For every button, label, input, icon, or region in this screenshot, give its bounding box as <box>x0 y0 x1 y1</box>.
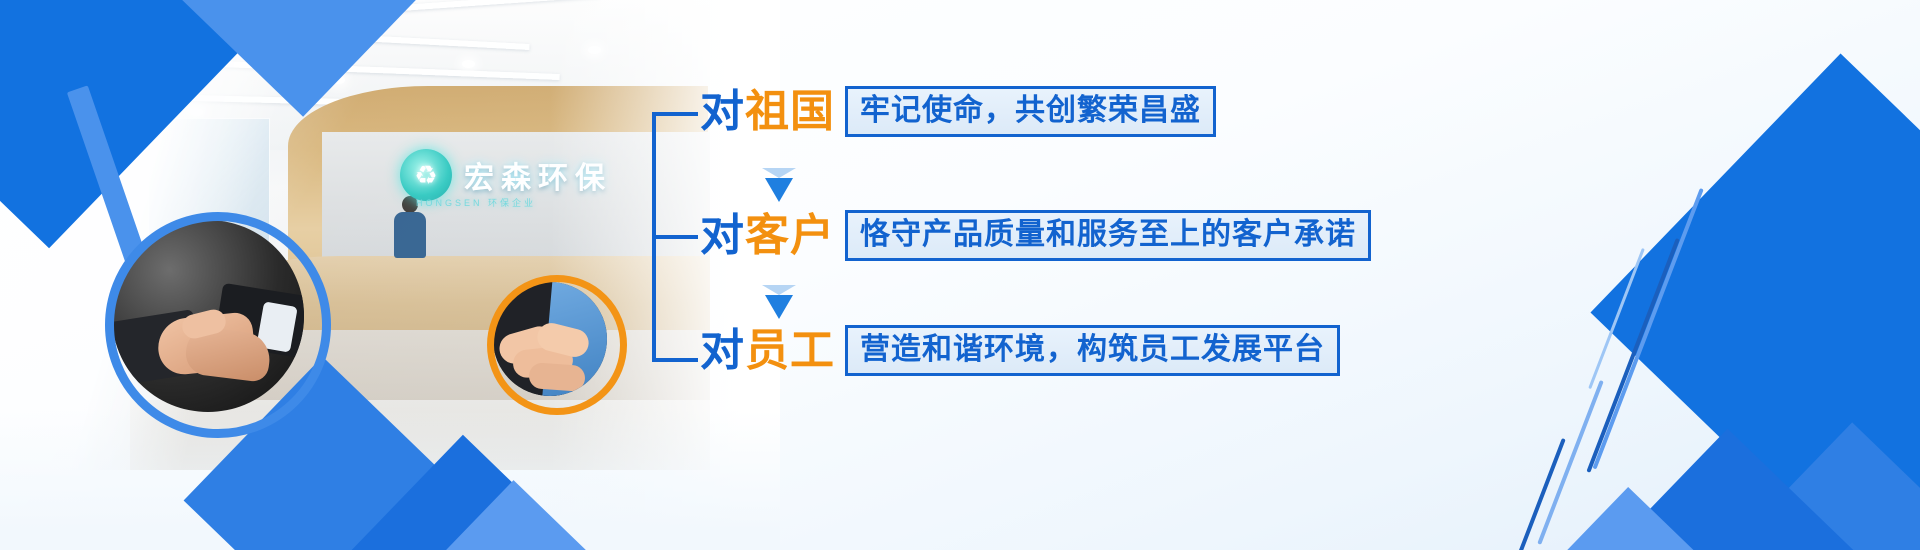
value-prefix: 对 <box>700 87 745 136</box>
applause-photo-ring <box>487 275 627 415</box>
values-list: 对祖国 牢记使命，共创繁荣昌盛 对客户 恪守产品质量和服务至上的客户承诺 对员工… <box>640 0 1690 550</box>
bracket-stub-middle <box>652 235 698 239</box>
value-row-customer: 对客户 恪守产品质量和服务至上的客户承诺 <box>700 210 1371 261</box>
value-prefix: 对 <box>700 211 745 260</box>
value-lead-employee: 对员工 <box>700 329 835 373</box>
bracket-stub-bottom <box>652 358 698 362</box>
handshake-photo-ring <box>105 212 331 438</box>
value-target: 员工 <box>745 326 835 375</box>
corporate-values-banner: ♻ 宏森环保 HONGSEN 环保企业 <box>0 0 1920 550</box>
value-target: 祖国 <box>745 87 835 136</box>
value-lead-country: 对祖国 <box>700 90 835 134</box>
value-lead-customer: 对客户 <box>700 214 835 258</box>
bracket-connector <box>652 112 702 362</box>
arrow-triangle <box>765 295 793 319</box>
value-target: 客户 <box>745 211 835 260</box>
value-row-country: 对祖国 牢记使命，共创繁荣昌盛 <box>700 86 1216 137</box>
value-statement-employee: 营造和谐环境，构筑员工发展平台 <box>845 325 1340 376</box>
value-statement-country: 牢记使命，共创繁荣昌盛 <box>845 86 1216 137</box>
arrow-triangle <box>765 178 793 202</box>
arrow-top-band <box>762 285 796 295</box>
arrow-top-band <box>762 168 796 178</box>
value-row-employee: 对员工 营造和谐环境，构筑员工发展平台 <box>700 325 1340 376</box>
bracket-stub-top <box>652 112 698 116</box>
value-statement-customer: 恪守产品质量和服务至上的客户承诺 <box>845 210 1371 261</box>
value-prefix: 对 <box>700 326 745 375</box>
